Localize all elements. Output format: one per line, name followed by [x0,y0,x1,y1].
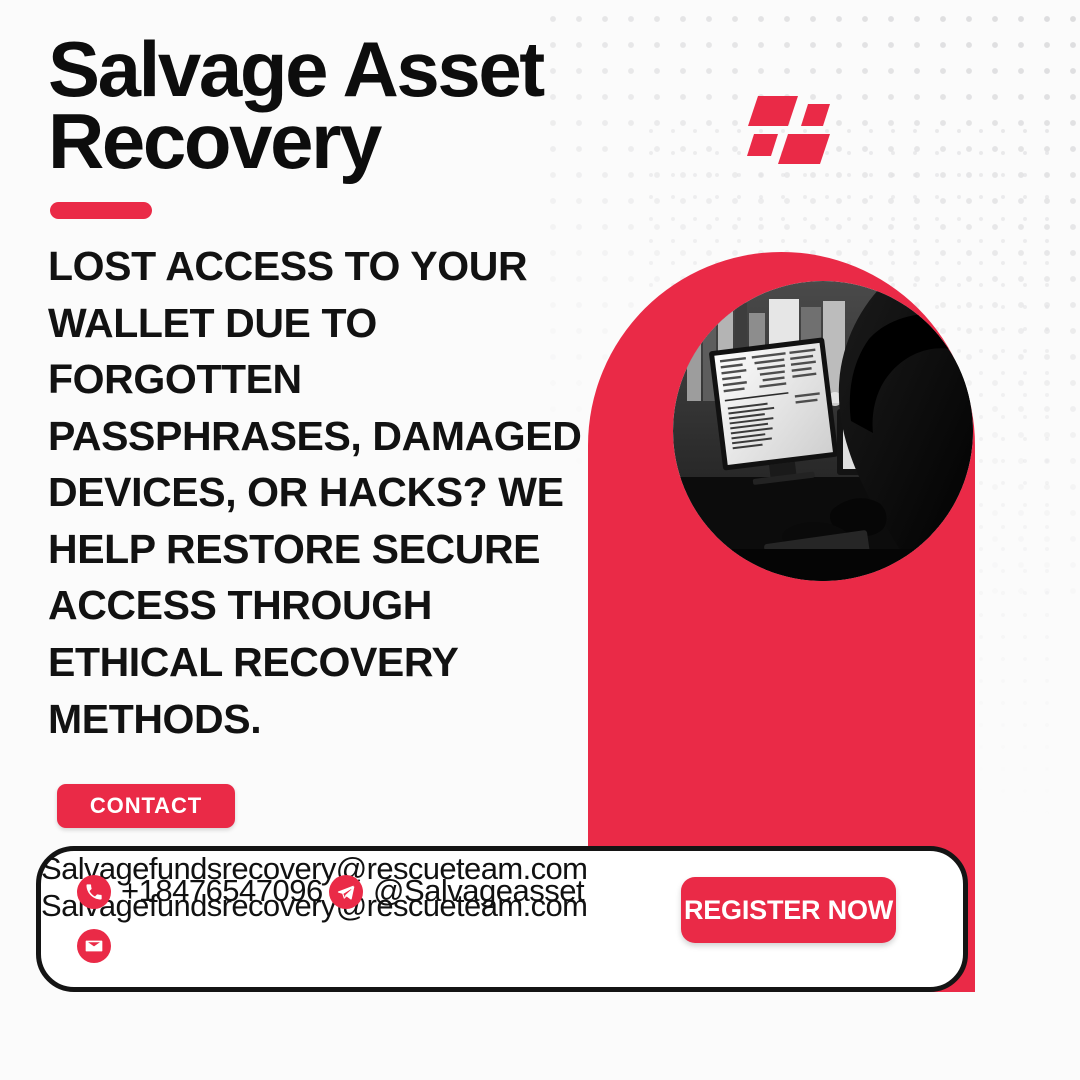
poster-canvas: Salvage Asset Recovery LOST ACCESS TO YO… [0,0,1080,1080]
contact-button[interactable]: CONTACT [57,784,235,828]
four-parallelogram-logo-icon [744,92,840,168]
phone-icon [77,875,111,909]
hero-photo [673,281,973,581]
email-icon [77,929,111,963]
title-accent-bar [50,202,152,219]
telegram-handle[interactable]: @Salvageasset [373,873,584,909]
contact-info-bar: +18476547096 @Salvageasset Salvagefundsr… [36,846,968,992]
phone-number[interactable]: +18476547096 [121,873,323,909]
body-paragraph: LOST ACCESS TO YOUR WALLET DUE TO FORGOT… [48,238,600,747]
page-title: Salvage Asset Recovery [48,34,708,178]
telegram-icon [329,875,363,909]
register-now-button[interactable]: REGISTER NOW [681,877,896,943]
